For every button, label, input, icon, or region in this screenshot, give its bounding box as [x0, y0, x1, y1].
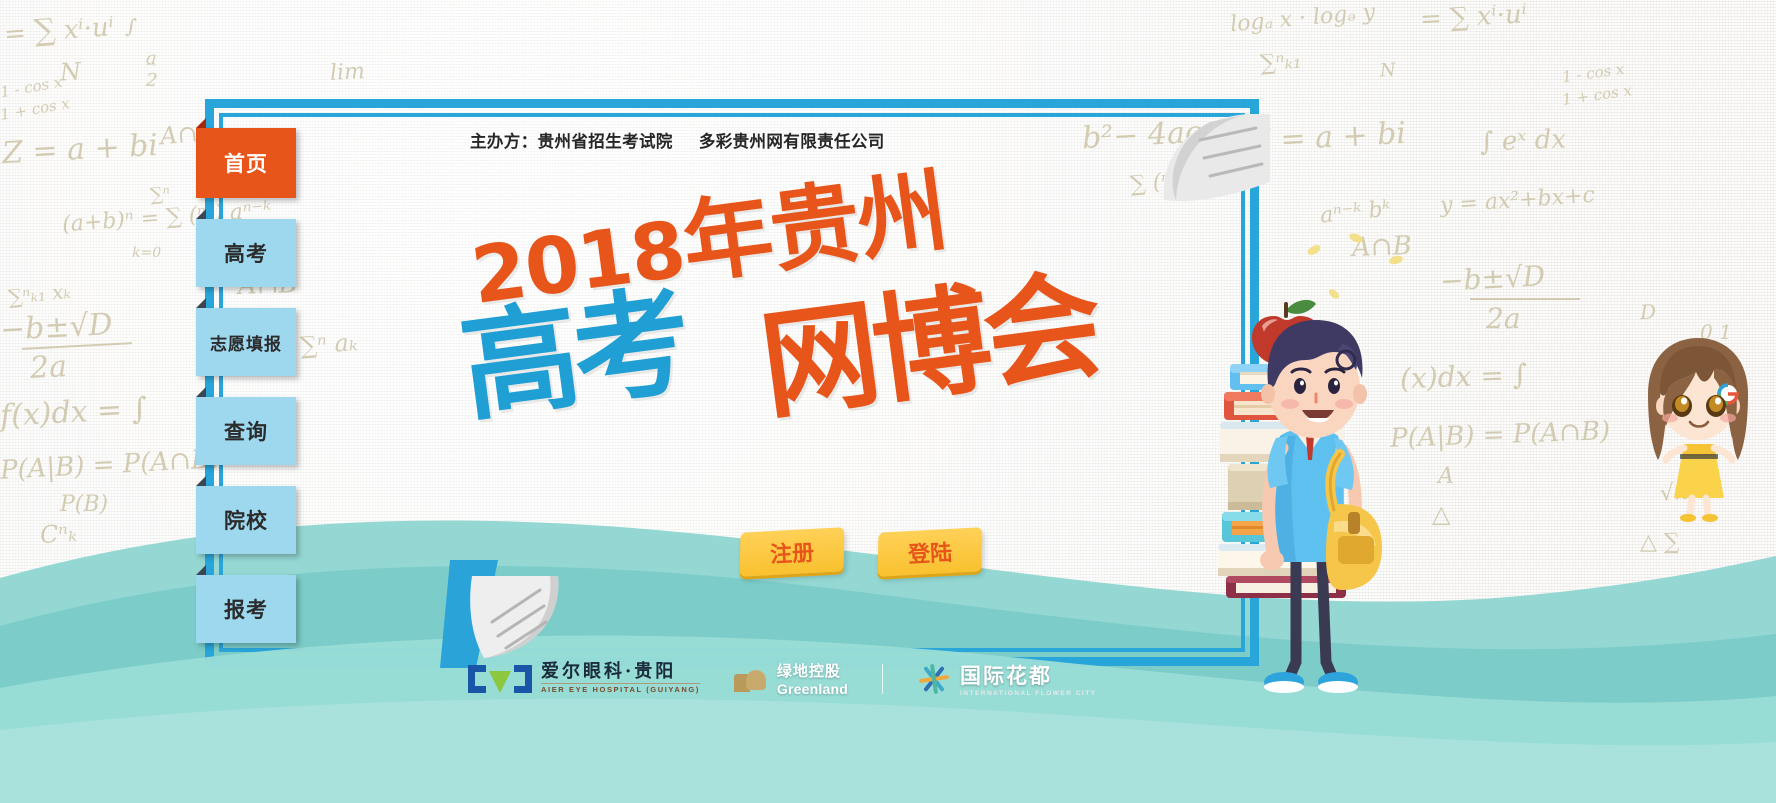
sidebar-item-colleges[interactable]: 院校	[196, 486, 296, 554]
organizer-name-2: 多彩贵州网有限责任公司	[699, 133, 885, 151]
sponsor-name-en: INTERNATIONAL FLOWER CITY	[960, 690, 1097, 697]
sidebar-nav[interactable]: 首页 高考 志愿填报 查询 院校 报考	[196, 128, 300, 664]
organizer-prefix: 主办方：	[470, 133, 538, 151]
sidebar-item-query[interactable]: 查询	[196, 397, 296, 465]
chibi-girl-illustration	[1628, 330, 1768, 525]
hero-title-line-3: 网博会	[755, 265, 1104, 426]
sponsor-name-zh: 国际花都	[960, 660, 1097, 690]
hero-title-line-2: 高考	[455, 282, 693, 428]
greenland-logo-icon	[734, 666, 768, 692]
sidebar-item-zhiyuan[interactable]: 志愿填报	[196, 308, 296, 376]
sidebar-item-label: 首页	[224, 148, 268, 178]
sidebar-item-gaokao[interactable]: 高考	[196, 219, 296, 287]
hero-title: 2018年贵州 高考 网博会	[470, 200, 1110, 490]
paper-curl-top-icon	[1152, 112, 1272, 212]
sidebar-item-label: 高考	[224, 238, 268, 268]
register-button-label: 注册	[769, 535, 815, 569]
sponsor-name-zh: 爱尔眼科·贵阳	[541, 663, 700, 682]
sidebar-item-label: 报考	[224, 594, 268, 624]
sidebar-item-home[interactable]: 首页	[196, 128, 296, 198]
sponsor-name-zh: 绿地控股	[777, 660, 848, 681]
register-button[interactable]: 注册	[740, 527, 845, 577]
login-button-label: 登陆	[907, 535, 953, 569]
sponsor-name-en: AIER EYE HOSPITAL (GUIYANG)	[541, 683, 700, 694]
sponsor-greenland[interactable]: 绿地控股 Greenland	[734, 660, 848, 697]
sponsor-aier-eye[interactable]: 爱尔眼科·贵阳 AIER EYE HOSPITAL (GUIYANG)	[468, 663, 700, 694]
student-boy-illustration	[1222, 260, 1412, 700]
login-button[interactable]: 登陆	[878, 527, 983, 577]
eye-logo-icon	[468, 663, 532, 693]
sidebar-item-label: 查询	[224, 416, 268, 446]
sponsor-divider	[882, 664, 883, 694]
organizer-line: 主办方：贵州省招生考试院多彩贵州网有限责任公司	[470, 128, 885, 152]
paper-curl-bottom-icon	[466, 570, 596, 662]
sidebar-item-apply[interactable]: 报考	[196, 575, 296, 643]
sponsor-international-flower-city[interactable]: 国际花都 INTERNATIONAL FLOWER CITY	[917, 660, 1097, 697]
sidebar-item-label: 志愿填报	[210, 330, 282, 355]
cta-button-row[interactable]: 注册 登陆	[740, 530, 982, 574]
flower-logo-icon	[917, 662, 951, 696]
organizer-name-1: 贵州省招生考试院	[538, 133, 673, 151]
banner-page: = ∑ xⁱ·uⁱ N 1 - cos x 1 + cos x Z = a + …	[0, 0, 1776, 803]
sidebar-item-label: 院校	[224, 505, 268, 535]
sponsor-name-en: Greenland	[777, 681, 848, 697]
sponsor-logo-row: 爱尔眼科·贵阳 AIER EYE HOSPITAL (GUIYANG) 绿地控股…	[468, 660, 1097, 697]
